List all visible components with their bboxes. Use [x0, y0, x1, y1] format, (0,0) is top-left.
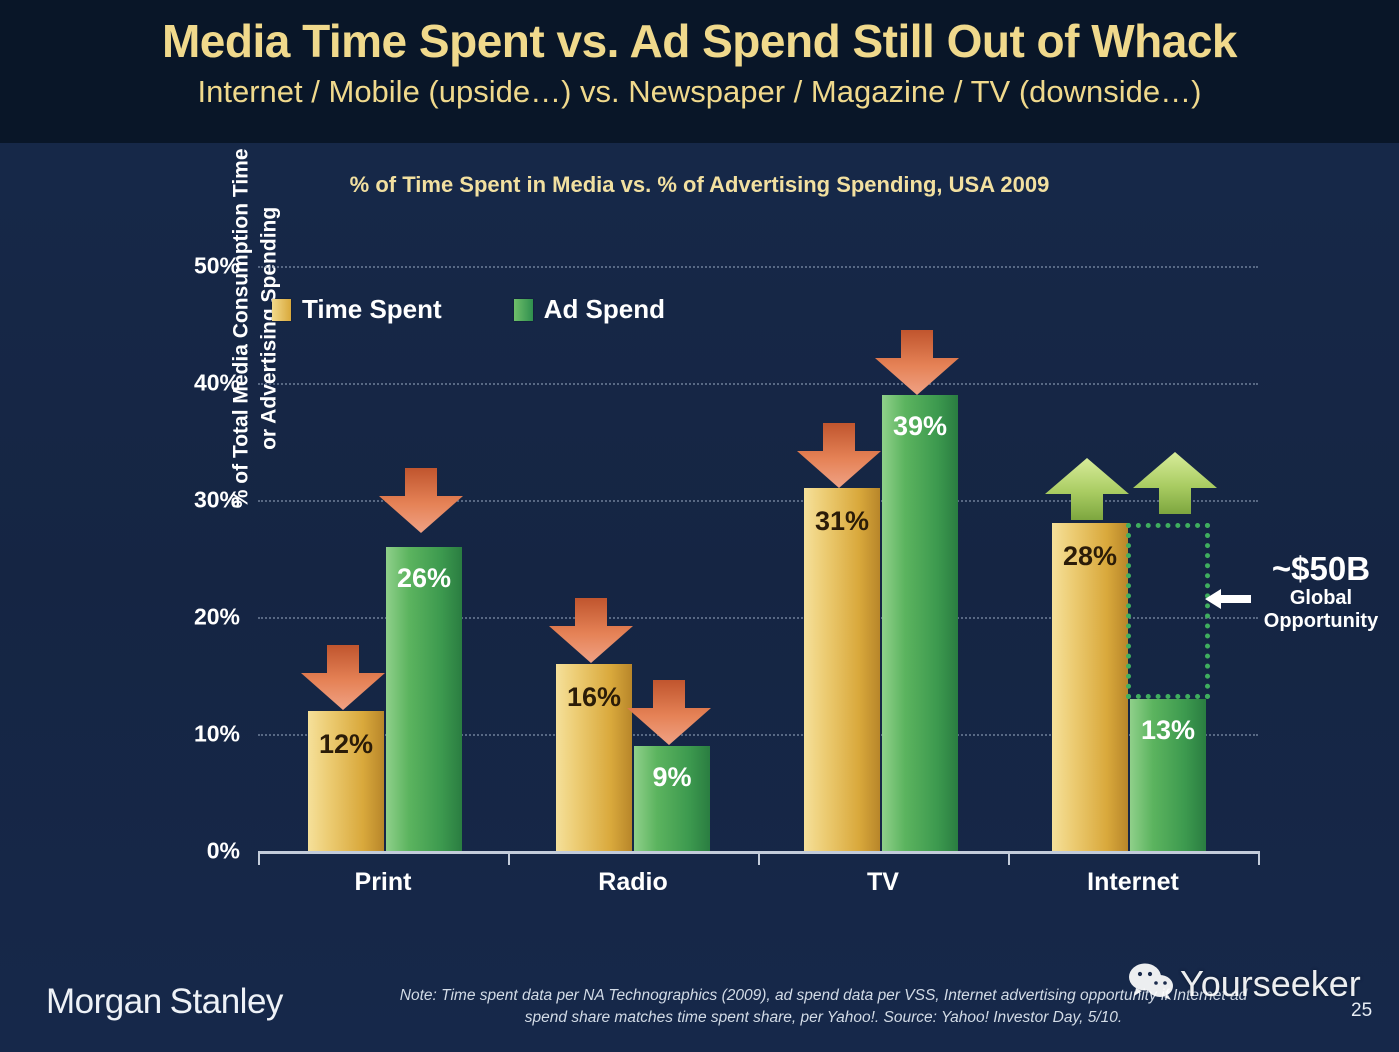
bar-internet-ad-spend[interactable]: 13%: [1130, 699, 1206, 851]
legend-swatch-icon-ad-spend: [514, 299, 533, 321]
x-axis-tick-3: [1008, 851, 1010, 865]
bar-tv-time-spent[interactable]: 31%: [804, 488, 880, 851]
bar-label-radio-time-spent: 16%: [556, 682, 632, 713]
watermark: Yourseeker: [1128, 962, 1361, 1005]
callout-arrow-icon: [1205, 586, 1251, 617]
legend-item-ad-spend[interactable]: Ad Spend: [514, 294, 665, 325]
x-category-radio: Radio: [598, 868, 667, 897]
header-band: Media Time Spent vs. Ad Spend Still Out …: [0, 0, 1399, 143]
x-category-print: Print: [355, 868, 412, 897]
callout-line-2: Opportunity: [1246, 610, 1396, 634]
morgan-stanley-logo: MorganStanley: [46, 982, 283, 1022]
x-category-internet: Internet: [1087, 868, 1179, 897]
bar-label-print-ad-spend: 26%: [386, 563, 462, 594]
x-category-tv: TV: [867, 868, 899, 897]
down-arrow-icon-radio-time-spent: [549, 598, 633, 663]
callout-opportunity: ~$50B Global Opportunity: [1246, 552, 1396, 634]
page-subtitle: Internet / Mobile (upside…) vs. Newspape…: [0, 74, 1399, 110]
x-axis-tick-2: [758, 851, 760, 865]
callout-line-1: Global: [1246, 587, 1396, 611]
slide: Media Time Spent vs. Ad Spend Still Out …: [0, 0, 1399, 1052]
opportunity-box: [1126, 523, 1210, 699]
up-arrow-icon-internet-time-spent: [1045, 458, 1129, 520]
legend-swatch-icon-time-spent: [272, 299, 291, 321]
page-title: Media Time Spent vs. Ad Spend Still Out …: [0, 14, 1399, 68]
brand-thin: Stanley: [162, 982, 283, 1021]
bar-label-radio-ad-spend: 9%: [634, 762, 710, 793]
bar-label-print-time-spent: 12%: [308, 729, 384, 760]
bar-tv-ad-spend[interactable]: 39%: [882, 395, 958, 851]
y-axis-label-line1: % of Total Media Consumption Time: [228, 48, 256, 608]
callout-value: ~$50B: [1246, 552, 1396, 587]
down-arrow-icon-print-time-spent: [301, 645, 385, 710]
chart-title: % of Time Spent in Media vs. % of Advert…: [0, 172, 1399, 198]
gridline-40: [258, 383, 1258, 385]
watermark-text: Yourseeker: [1180, 963, 1361, 1005]
up-arrow-icon-internet-ad-spend: [1133, 452, 1217, 514]
gridline-50: [258, 266, 1258, 268]
page-number: 25: [1351, 1000, 1372, 1022]
bar-label-internet-time-spent: 28%: [1052, 541, 1128, 572]
down-arrow-icon-tv-time-spent: [797, 423, 881, 488]
bar-radio-time-spent[interactable]: 16%: [556, 664, 632, 851]
down-arrow-icon-print-ad-spend: [379, 468, 463, 533]
y-tick-40: 40%: [194, 370, 240, 397]
bar-print-time-spent[interactable]: 12%: [308, 711, 384, 851]
legend: Time Spent Ad Spend: [272, 294, 665, 325]
y-tick-50: 50%: [194, 253, 240, 280]
brand-bold: Morgan: [46, 982, 162, 1021]
legend-item-time-spent[interactable]: Time Spent: [272, 294, 442, 325]
bar-label-tv-ad-spend: 39%: [882, 411, 958, 442]
plot-area: 12% 26% 16% 9% 31% 39% 28% 13%: [258, 266, 1258, 851]
down-arrow-icon-radio-ad-spend: [627, 680, 711, 745]
x-axis-tick-start: [258, 851, 260, 865]
bar-internet-time-spent[interactable]: 28%: [1052, 523, 1128, 851]
y-tick-10: 10%: [194, 721, 240, 748]
legend-label-ad-spend: Ad Spend: [544, 294, 665, 325]
bar-radio-ad-spend[interactable]: 9%: [634, 746, 710, 851]
wechat-icon: [1128, 962, 1174, 1005]
bar-label-internet-ad-spend: 13%: [1130, 715, 1206, 746]
y-tick-0: 0%: [207, 838, 240, 865]
y-tick-30: 30%: [194, 487, 240, 514]
bar-print-ad-spend[interactable]: 26%: [386, 547, 462, 851]
y-tick-20: 20%: [194, 604, 240, 631]
x-axis-tick-1: [508, 851, 510, 865]
x-axis-tick-end: [1258, 851, 1260, 865]
footnote-line-2: spend share matches time spent share, pe…: [316, 1007, 1331, 1029]
down-arrow-icon-tv-ad-spend: [875, 330, 959, 395]
legend-label-time-spent: Time Spent: [302, 294, 442, 325]
bar-label-tv-time-spent: 31%: [804, 506, 880, 537]
